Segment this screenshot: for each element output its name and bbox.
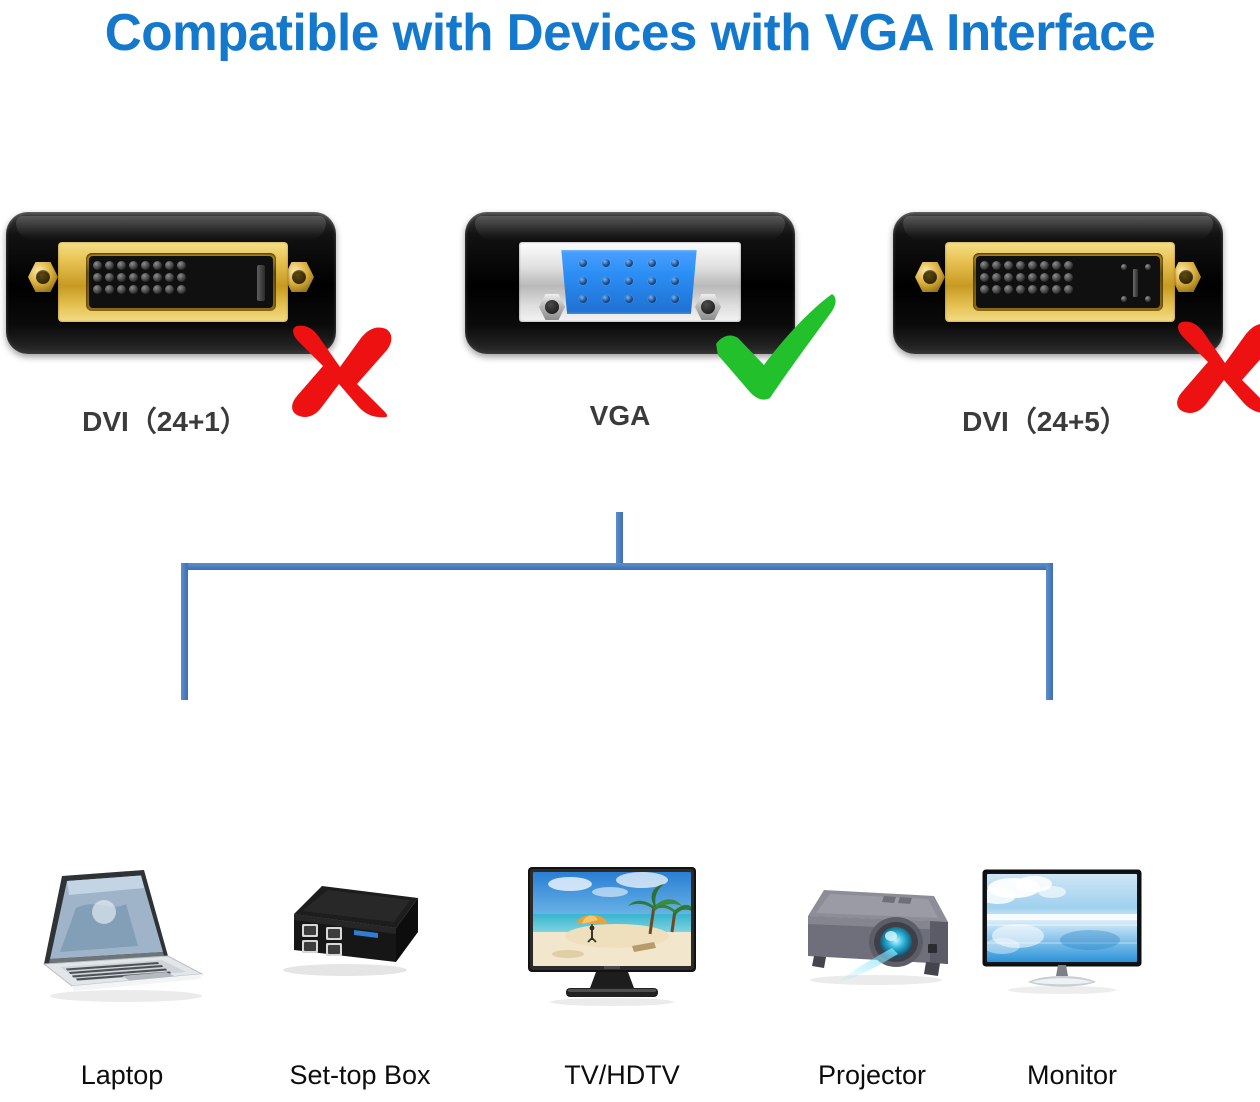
dvi-flat-blade-icon [257, 265, 265, 301]
projector-icon [772, 862, 972, 1022]
screw-post-left-icon [28, 262, 58, 292]
bracket-right-leg [1046, 563, 1053, 700]
bracket-left-leg [181, 563, 188, 700]
laptop-icon [22, 862, 222, 1022]
vga-pin-array [557, 259, 701, 303]
dvi-gold-faceplate [58, 242, 288, 322]
vga-silver-faceplate [519, 242, 741, 322]
connector-label-dvi-24-1: DVI（24+1） [0, 400, 330, 440]
device-label-set-top-box: Set-top Box [260, 1060, 460, 1091]
device-label-monitor: Monitor [972, 1060, 1172, 1091]
green-check-icon [714, 292, 838, 402]
vga-dsub-shell [557, 250, 701, 314]
device-label-laptop: Laptop [22, 1060, 222, 1091]
monitor-icon [972, 862, 1172, 1022]
bracket-connector-line [0, 500, 1260, 730]
screw-post-right-icon [1171, 262, 1201, 292]
dvi-pin-array [93, 261, 186, 294]
dvi-pin-array [980, 261, 1073, 294]
device-label-tv-hdtv: TV/HDTV [522, 1060, 722, 1091]
dvi-five-pin-cluster-icon [1119, 262, 1155, 304]
screw-post-left-icon [539, 294, 565, 320]
page-title: Compatible with Devices with VGA Interfa… [9, 2, 1250, 66]
dvi-gold-faceplate [945, 242, 1175, 322]
bracket-stem [616, 512, 623, 570]
connector-label-vga: VGA [455, 400, 785, 432]
set-top-box-icon [260, 862, 460, 1022]
screw-post-right-icon [284, 262, 314, 292]
connector-label-dvi-24-5: DVI（24+5） [880, 400, 1210, 440]
device-label-projector: Projector [772, 1060, 972, 1091]
bracket-horizontal [181, 563, 1053, 570]
television-icon [522, 862, 722, 1022]
screw-post-left-icon [915, 262, 945, 292]
